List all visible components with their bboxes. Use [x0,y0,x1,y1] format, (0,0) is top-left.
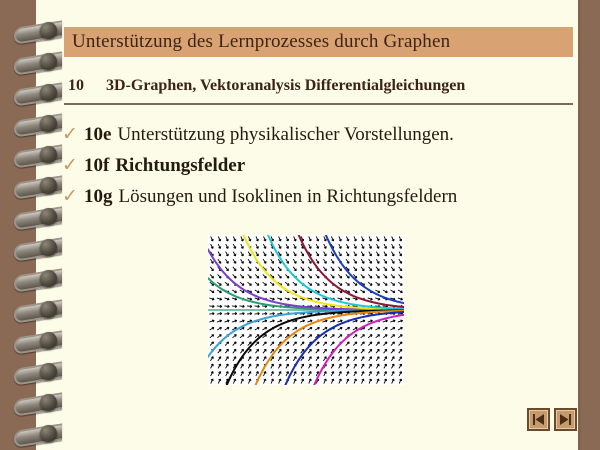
bullet-tag: 10f [84,155,109,177]
list-item: ✓ 10f Richtungsfelder [62,155,577,177]
bullet-text: Lösungen und Isoklinen in Richtungsfelde… [119,186,458,208]
heading-divider [64,103,573,105]
previous-slide-button[interactable] [527,408,550,431]
slide-title: Unterstützung des Lernprozesses durch Gr… [64,31,450,53]
checkmark-icon: ✓ [62,187,84,206]
list-item: ✓ 10g Lösungen und Isoklinen in Richtung… [62,186,577,208]
list-item: ✓ 10e Unterstützung physikalischer Vorst… [62,124,577,146]
next-slide-button[interactable] [554,408,577,431]
checkmark-icon: ✓ [62,156,84,175]
section-heading: 10 3D-Graphen, Vektoranalysis Differenti… [68,74,573,98]
checkmark-icon: ✓ [62,125,84,144]
next-slide-icon [559,413,572,426]
page-edge-shadow [578,0,581,450]
curve-blue-top [317,235,404,303]
bullet-tag: 10g [84,186,113,208]
slide-navigation [527,408,577,432]
bullet-tag: 10e [84,124,111,146]
curve-purple [208,249,404,309]
section-number: 10 [68,77,84,95]
bullet-text: Richtungsfelder [115,155,245,177]
bullet-text: Unterstützung physikalischer Vorstellung… [117,124,454,146]
bullet-list: ✓ 10e Unterstützung physikalischer Vorst… [62,124,577,217]
direction-field-plot [208,235,404,385]
direction-field-figure [208,235,404,385]
section-title: 3D-Graphen, Vektoranalysis Differentialg… [106,77,465,95]
slide-canvas: Unterstützung des Lernprozesses durch Gr… [0,0,600,450]
slide-title-band: Unterstützung des Lernprozesses durch Gr… [64,27,573,57]
previous-slide-icon [532,413,545,426]
